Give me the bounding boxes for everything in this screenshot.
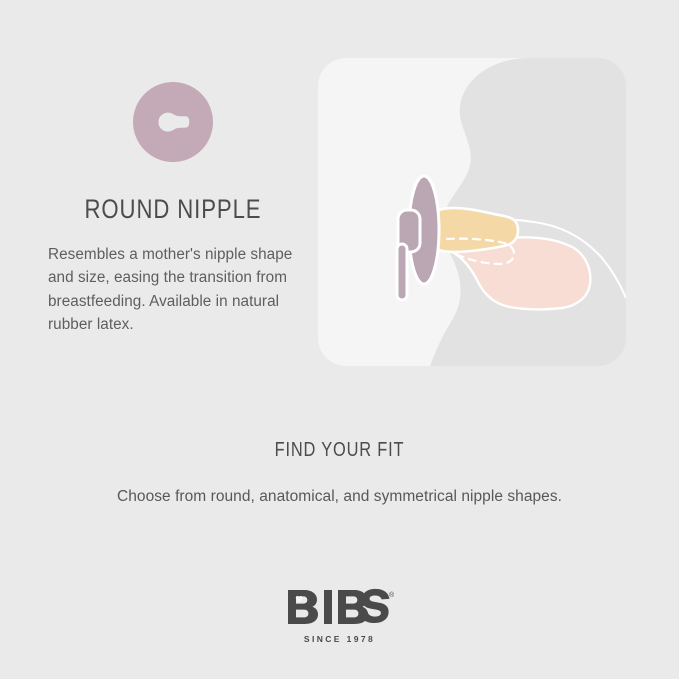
brand-logo-block: ® SINCE 1978 xyxy=(0,588,679,644)
feature-info-column: ROUND NIPPLE Resembles a mother's nipple… xyxy=(48,82,298,336)
brand-tagline: SINCE 1978 xyxy=(0,634,679,644)
feature-heading: ROUND NIPPLE xyxy=(71,196,276,223)
feature-description: Resembles a mother's nipple shape and si… xyxy=(48,243,298,336)
product-feature-panel: ROUND NIPPLE Resembles a mother's nipple… xyxy=(0,0,679,679)
heart-icon xyxy=(295,596,302,603)
find-your-fit-subtitle: Choose from round, anatomical, and symme… xyxy=(0,488,679,506)
trademark-symbol: ® xyxy=(389,591,394,599)
find-your-fit-block: FIND YOUR FIT Choose from round, anatomi… xyxy=(0,440,679,506)
feature-icon-wrapper xyxy=(48,82,298,162)
find-your-fit-heading: FIND YOUR FIT xyxy=(61,440,618,460)
illustration-card xyxy=(318,58,626,366)
round-nipple-shape-icon xyxy=(133,82,213,162)
feature-top-section: ROUND NIPPLE Resembles a mother's nipple… xyxy=(0,0,679,400)
bibs-wordmark: ® xyxy=(286,588,394,631)
baby-profile-with-pacifier-illustration xyxy=(318,58,626,366)
